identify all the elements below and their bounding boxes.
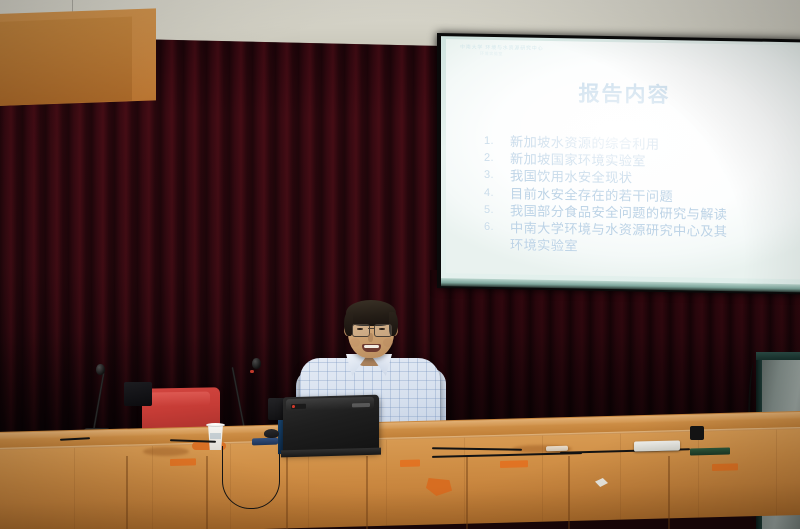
microphone-head bbox=[252, 358, 261, 369]
loudspeaker-top bbox=[756, 352, 800, 360]
podium-desk bbox=[0, 432, 800, 529]
desk-white-device bbox=[634, 440, 680, 451]
list-item-number: 1. bbox=[484, 133, 510, 151]
list-item-number: 6. bbox=[484, 219, 510, 237]
desk-tape-mark bbox=[500, 460, 528, 468]
desk-panel-seam bbox=[568, 456, 570, 529]
lecture-hall-scene: 中南大学 环境与水资源研究中心 环境实验室 报告内容 1. 新加坡水资源的综合利… bbox=[0, 0, 800, 529]
presenter-cheek-right bbox=[383, 338, 393, 347]
list-item-number: 5. bbox=[484, 202, 510, 220]
desk-black-item bbox=[690, 426, 704, 440]
desk-panel-seam bbox=[286, 456, 288, 529]
slide-watermark-line2: 环境实验室 bbox=[480, 51, 503, 57]
presenter-nose bbox=[368, 333, 373, 342]
slide-surface: 中南大学 环境与水资源研究中心 环境实验室 报告内容 1. 新加坡水资源的综合利… bbox=[446, 39, 800, 279]
microphone-head bbox=[96, 364, 105, 375]
desk-left-lower bbox=[0, 17, 132, 106]
presenter-teeth bbox=[364, 345, 379, 348]
glasses-lens-right bbox=[374, 324, 392, 337]
desk-tape-mark bbox=[712, 463, 738, 471]
presenter-cheek-left bbox=[350, 338, 360, 347]
glasses-bridge bbox=[368, 328, 374, 329]
desk-panel-seam bbox=[126, 456, 128, 529]
list-item-text: 环境实验室 bbox=[510, 236, 795, 258]
desk-stain bbox=[143, 447, 189, 456]
desk-panel-seam bbox=[466, 456, 468, 529]
desk-panel-seam bbox=[366, 456, 368, 529]
desk-blue-item bbox=[252, 438, 278, 446]
desk-panel-seam bbox=[668, 456, 670, 529]
list-item-number: 2. bbox=[484, 150, 510, 168]
list-item-number: 4. bbox=[484, 184, 510, 202]
hanging-cable-loop bbox=[222, 446, 280, 509]
projection-screen: 中南大学 环境与水资源研究中心 环境实验室 报告内容 1. 新加坡水资源的综合利… bbox=[437, 33, 800, 294]
slide-title: 报告内容 bbox=[446, 75, 800, 111]
chair-highlight bbox=[148, 391, 210, 406]
lenovo-logo bbox=[352, 403, 370, 408]
desk-white-item bbox=[546, 446, 568, 452]
thinkpad-laptop bbox=[283, 395, 379, 454]
desk-tape-mark bbox=[170, 458, 196, 466]
microphone-indicator bbox=[250, 370, 254, 373]
desk-tape-mark bbox=[400, 459, 420, 467]
desk-green-item bbox=[690, 447, 730, 455]
side-monitor bbox=[124, 382, 152, 406]
paper-cup-label bbox=[210, 433, 221, 439]
desk-panel-seam bbox=[206, 456, 208, 529]
slide-agenda-list: 1. 新加坡水资源的综合利用 2. 新加坡国家环境实验室 3. 我国饮用水安全现… bbox=[484, 133, 795, 259]
list-item-number: 3. bbox=[484, 167, 510, 185]
paper-cup-rim bbox=[206, 423, 225, 427]
computer-mouse bbox=[264, 429, 279, 438]
